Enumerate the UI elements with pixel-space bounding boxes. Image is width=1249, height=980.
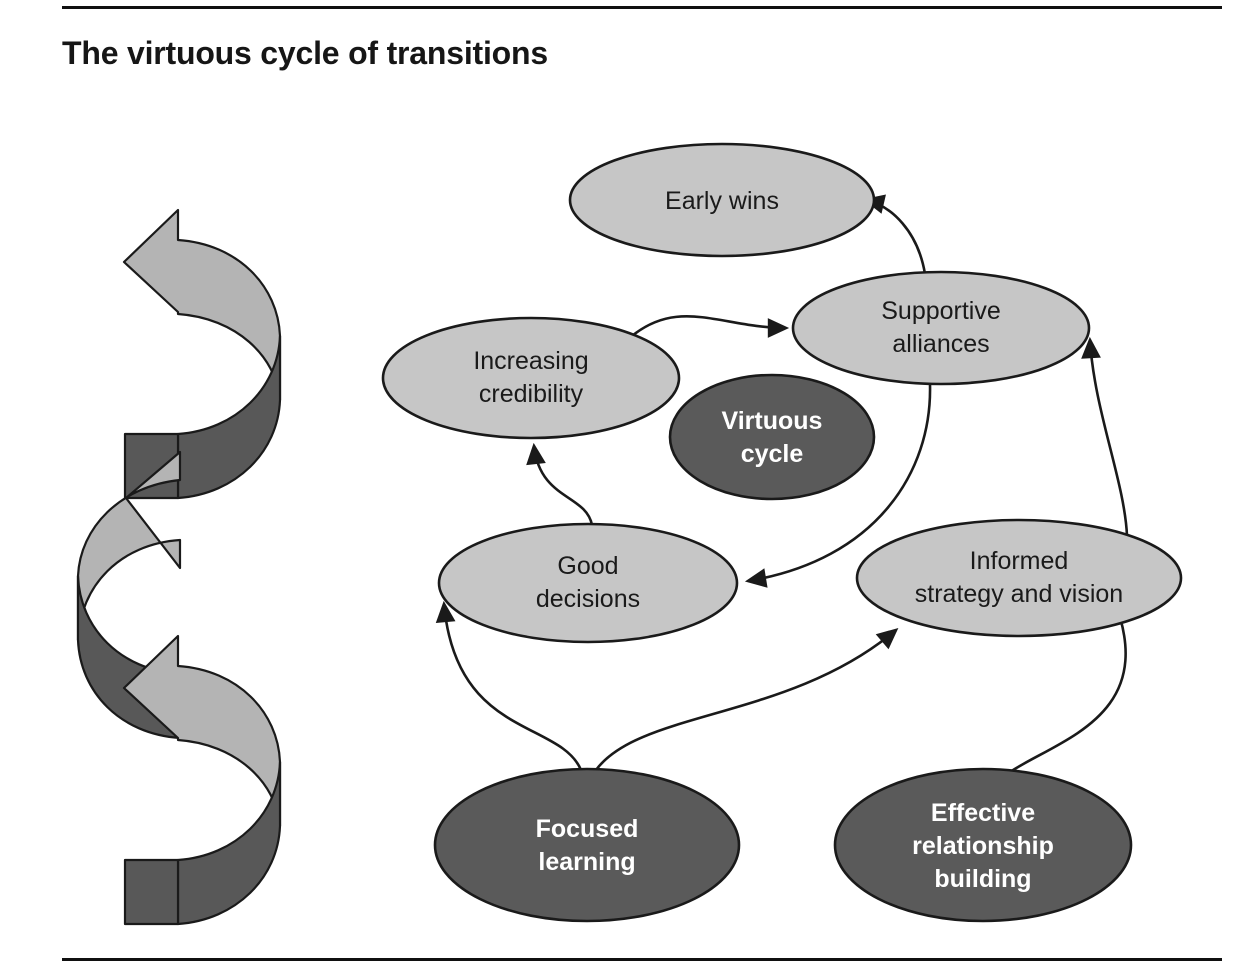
node-good-decisions-shape[interactable] [439,524,737,642]
node-increasing-credibility-label-line-1: Increasing [473,347,588,375]
node-effective-relationship-building-label-line-1: Effective [931,799,1035,827]
page-title: The virtuous cycle of transitions [62,35,548,72]
node-informed-strategy-label-line-1: Informed [970,547,1069,575]
bottom-rule [62,958,1222,961]
spiral-arrow-front-1 [124,210,280,400]
top-rule [62,6,1222,9]
virtuous-cycle-diagram: Early wins Supportive alliances Increasi… [0,100,1249,940]
node-supportive-alliances-label-line-1: Supportive [881,297,1001,325]
node-focused-learning[interactable]: Focused learning [435,769,739,921]
diagram-nodes: Early wins Supportive alliances Increasi… [383,144,1181,921]
edge-supportive-to-early-wins [866,200,925,274]
figure-container: The virtuous cycle of transitions [0,0,1249,980]
node-effective-relationship-building-label-line-3: building [934,865,1031,893]
node-focused-learning-label-line-2: learning [538,848,635,876]
node-increasing-credibility-label-line-2: credibility [479,380,584,408]
node-effective-relationship-building[interactable]: Effective relationship building [835,769,1131,921]
diagram-canvas: Early wins Supportive alliances Increasi… [0,100,1249,940]
node-focused-learning-shape[interactable] [435,769,739,921]
node-good-decisions[interactable]: Good decisions [439,524,737,642]
node-supportive-alliances[interactable]: Supportive alliances [793,272,1089,384]
node-early-wins-label-line-1: Early wins [665,187,779,215]
node-informed-strategy-label-line-2: strategy and vision [915,580,1123,608]
node-good-decisions-label-line-1: Good [557,552,618,580]
node-increasing-credibility-shape[interactable] [383,318,679,438]
node-supportive-alliances-label-line-2: alliances [892,330,989,358]
node-good-decisions-label-line-2: decisions [536,585,640,613]
node-virtuous-cycle-shape[interactable] [670,375,874,499]
node-supportive-alliances-shape[interactable] [793,272,1089,384]
node-virtuous-cycle-label-line-2: cycle [741,440,804,468]
node-virtuous-cycle-label-line-1: Virtuous [722,407,823,435]
edge-good-to-credibility [534,446,592,525]
node-focused-learning-label-line-1: Focused [536,815,639,843]
node-informed-strategy-shape[interactable] [857,520,1181,636]
node-effective-relationship-building-label-line-2: relationship [912,832,1054,860]
edge-credibility-to-supportive [625,316,786,342]
spiral-band-back-3b [125,860,178,924]
node-virtuous-cycle[interactable]: Virtuous cycle [670,375,874,499]
node-early-wins[interactable]: Early wins [570,144,874,256]
node-informed-strategy[interactable]: Informed strategy and vision [857,520,1181,636]
node-increasing-credibility[interactable]: Increasing credibility [383,318,679,438]
edge-focused-to-informed [596,630,896,770]
spiral-arrows-graphic [78,210,280,924]
